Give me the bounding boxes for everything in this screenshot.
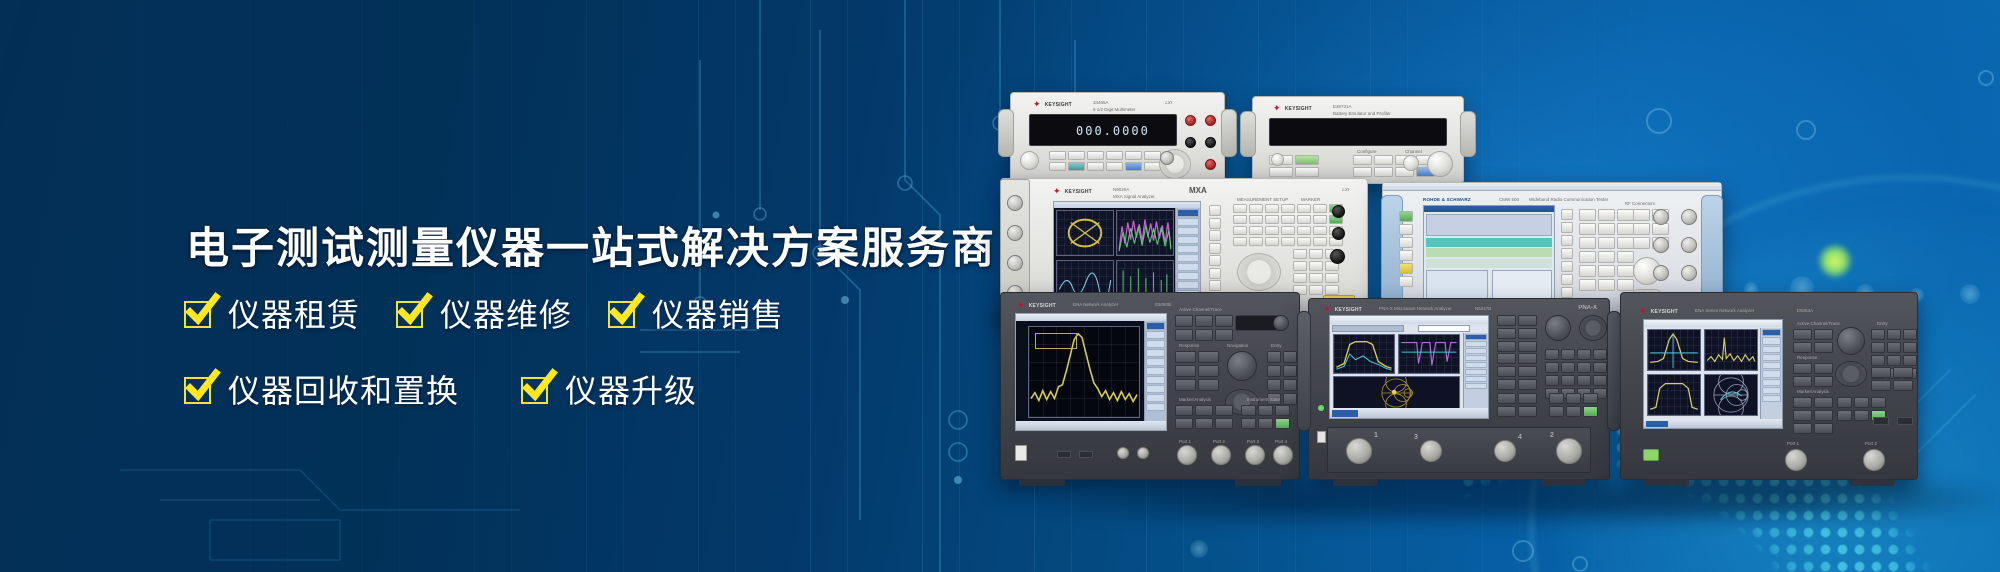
model-label: N5247B [1475, 306, 1491, 311]
pnax-display-keys[interactable] [1497, 393, 1537, 417]
keysight-logo-icon: ✦ [1323, 305, 1331, 314]
handle [1240, 111, 1256, 157]
mxa-softkeys[interactable] [1209, 205, 1221, 304]
group-label-response: Response [1179, 343, 1199, 348]
instrument-pnax-bottom-middle: ✦ KEYSIGHT PNA-X Microwave Network Analy… [1308, 298, 1610, 480]
cmw-screen[interactable] [1423, 205, 1555, 313]
dmm-display: 000.0000 [1029, 114, 1177, 146]
probe-power-port[interactable] [1137, 447, 1149, 459]
psu-display [1269, 118, 1447, 146]
psu-power-button[interactable] [1271, 153, 1284, 166]
instrument-vna-bottom-right: ✦ KEYSIGHT ENA Series Network Analyzer E… [1620, 292, 1918, 480]
test-port-4[interactable] [1494, 440, 1516, 462]
keysight-logo-icon: ✦ [1639, 307, 1647, 316]
mxa-badge: MXA [1189, 186, 1207, 195]
terminal-sense-hi[interactable] [1185, 115, 1196, 126]
status-led [1318, 405, 1324, 411]
pnax-test-port-panel: 1 3 4 2 [1327, 427, 1591, 473]
terminal-input-hi[interactable] [1205, 115, 1216, 126]
test-port-2[interactable] [1556, 438, 1582, 464]
test-port-2[interactable] [1211, 445, 1231, 465]
pnax-numeric-keypad[interactable] [1545, 349, 1607, 399]
model-label: E5080B [1155, 302, 1171, 307]
keysight-logo-icon: ✦ [1053, 187, 1061, 196]
ena-power-indicator [1273, 315, 1289, 331]
service-item-rental[interactable]: 仪器租赁 [184, 290, 360, 336]
dmm-softkey-grid[interactable] [1049, 151, 1161, 171]
ena-channel-keys[interactable] [1175, 315, 1233, 341]
spectrum-pane [1116, 210, 1174, 256]
brand-keysight: ✦ KEYSIGHT [1033, 100, 1072, 109]
model-subtitle: 6 1/2 Digit Multimeter [1093, 107, 1136, 112]
test-port-2[interactable] [1863, 449, 1885, 471]
test-port-1[interactable] [1346, 438, 1372, 464]
service-item-sales[interactable]: 仪器销售 [608, 290, 784, 336]
psu-select-knob[interactable] [1403, 155, 1419, 171]
service-label: 仪器销售 [652, 290, 784, 336]
brand-keysight: ✦ KEYSIGHT [1639, 307, 1678, 316]
test-port-4[interactable] [1273, 445, 1293, 465]
checkbox-checked-icon [521, 374, 552, 405]
pnax-smith-chart-pane [1333, 376, 1460, 410]
vna-smith-chart-pane [1704, 374, 1758, 416]
instrument-psu-top-right: ✦ KEYSIGHT E36731A Battery Emulator and … [1252, 96, 1464, 184]
test-port-1[interactable] [1177, 445, 1197, 465]
pnax-response-keys[interactable] [1497, 315, 1537, 352]
group-label-entry: Entry [1877, 321, 1888, 326]
handle [1607, 311, 1621, 431]
ena-state-keys[interactable] [1241, 405, 1290, 429]
brand-keysight: ✦ KEYSIGHT [1273, 104, 1312, 113]
model-subtitle: Wideband Radio Communication Tester [1529, 197, 1608, 202]
pnax-rotary-knob[interactable] [1545, 315, 1571, 341]
vna-response-keys[interactable] [1793, 363, 1833, 387]
group-label-rf-connectors: RF Connectors [1625, 201, 1655, 206]
dmm-power-knob[interactable] [1020, 151, 1039, 170]
usb-port[interactable] [1057, 451, 1071, 458]
pnax-utility-keys[interactable] [1549, 393, 1598, 417]
model-label: N9020A [1113, 187, 1129, 192]
vna-trace-pane-3 [1647, 374, 1701, 416]
port-number: 3 [1414, 434, 1418, 441]
mxa-function-keys[interactable] [1233, 204, 1343, 246]
rf-connector[interactable] [1007, 225, 1023, 241]
rf-port[interactable] [1681, 265, 1697, 281]
group-label-response: Response [1797, 355, 1817, 360]
service-row-2: 仪器回收和置换 仪器升级 [184, 366, 697, 412]
service-item-upgrade[interactable]: 仪器升级 [521, 366, 697, 412]
port-number: 4 [1518, 434, 1522, 441]
model-label: E36731A [1333, 104, 1352, 109]
rf-connector[interactable] [1007, 255, 1023, 271]
port-label: Port 1 [1787, 441, 1799, 446]
handle [998, 109, 1014, 157]
lxi-badge: LXI [1342, 187, 1349, 192]
model-label: CMW 500 [1499, 197, 1519, 202]
port-label: Port 2 [1213, 439, 1225, 444]
page-title: 电子测试测量仪器一站式解决方案服务商 [186, 214, 996, 276]
group-label-entry: Entry [1271, 343, 1282, 348]
constellation-pane [1056, 210, 1114, 256]
usb-port[interactable] [1873, 417, 1889, 425]
test-port-3[interactable] [1420, 440, 1442, 462]
mxa-rf-input[interactable] [1332, 205, 1345, 218]
instrument-foot [1235, 479, 1281, 486]
vna-rotary-knob[interactable] [1837, 327, 1865, 355]
terminal-sense-lo[interactable] [1185, 137, 1196, 148]
cmw-left-softkeys[interactable] [1399, 211, 1413, 287]
hero-banner: 电子测试测量仪器一站式解决方案服务商 仪器租赁 仪器维修 [0, 0, 2000, 572]
group-label-instrument-state: Instrument State [1247, 397, 1280, 402]
usb-port[interactable] [1897, 417, 1913, 425]
handle [1297, 311, 1311, 431]
rf-port[interactable] [1653, 265, 1669, 281]
pnax-badge: PNA-X [1578, 305, 1597, 311]
mxa-probe-input[interactable] [1332, 227, 1345, 240]
banner-copy: 电子测试测量仪器一站式解决方案服务商 仪器租赁 仪器维修 [0, 0, 980, 572]
power-switch[interactable] [1317, 431, 1326, 443]
checkbox-checked-icon [184, 298, 215, 329]
rf-port[interactable] [1653, 237, 1669, 253]
instrument-foot [1019, 479, 1065, 486]
service-label: 仪器升级 [565, 366, 697, 412]
port-label: Port 1 [1179, 439, 1191, 444]
group-label-navigation: Navigation [1227, 343, 1248, 348]
ena-response-keys[interactable] [1175, 351, 1219, 391]
service-item-repair[interactable]: 仪器维修 [396, 290, 572, 336]
instrument-foot [1541, 479, 1585, 486]
lxi-badge: LXI [1165, 100, 1172, 105]
instrument-foot [1333, 479, 1377, 486]
vna-trace-pane-2 [1704, 329, 1758, 371]
test-port-1[interactable] [1785, 449, 1807, 471]
cmw-keypad-left[interactable] [1579, 209, 1634, 291]
service-item-recycle-exchange[interactable]: 仪器回收和置换 [184, 366, 459, 412]
port-label: Port 3 [1247, 439, 1259, 444]
brand-keysight: ✦ KEYSIGHT [1323, 305, 1362, 314]
mxa-aux-input[interactable] [1330, 249, 1345, 264]
model-subtitle: MXA Signal Analyzer [1113, 194, 1155, 199]
model-subtitle: PNA-X Microwave Network Analyzer [1379, 306, 1452, 311]
brand-keysight: ✦ KEYSIGHT [1017, 301, 1056, 310]
model-subtitle: Battery Emulator and Profiler [1333, 111, 1391, 116]
group-label-marker: Marker/Analysis [1179, 397, 1211, 402]
port-label: Port 4 [1275, 439, 1287, 444]
group-label-channel: Channel [1405, 149, 1422, 154]
model-label: 34465A [1093, 100, 1109, 105]
keysight-logo-icon: ✦ [1017, 301, 1025, 310]
rf-connector[interactable] [1007, 195, 1023, 211]
instrument-foot [1643, 479, 1689, 486]
pnax-trace-pane-2 [1398, 334, 1460, 374]
dmm-aux-button[interactable] [1160, 151, 1174, 165]
cmw-right-softkeys[interactable] [1561, 209, 1573, 311]
terminal-current[interactable] [1205, 159, 1216, 170]
psu-adjust-knob[interactable] [1427, 151, 1453, 177]
ena-screen[interactable] [1015, 313, 1167, 431]
psu-function-buttons[interactable] [1353, 155, 1435, 177]
brand-rohde-schwarz: ROHDE & SCHWARZ [1423, 197, 1471, 202]
handle [1221, 109, 1237, 157]
power-switch[interactable] [1643, 449, 1659, 461]
power-switch[interactable] [1015, 445, 1027, 461]
keysight-logo-icon: ✦ [1033, 100, 1041, 109]
ena-rotary-knob[interactable] [1227, 351, 1257, 381]
service-label: 仪器回收和置换 [228, 366, 459, 412]
ena-marker-keys[interactable] [1175, 405, 1233, 429]
group-label-configure: Configure [1357, 149, 1377, 154]
terminal-input-lo[interactable] [1205, 137, 1216, 148]
pnax-trace-pane-1 [1333, 334, 1395, 374]
port-label: Port 2 [1865, 441, 1877, 446]
keysight-logo-icon: ✦ [1273, 104, 1281, 113]
vna-navigation-pad[interactable] [1835, 361, 1867, 387]
port-number: 2 [1550, 432, 1554, 439]
group-label-marker: MARKER [1301, 197, 1320, 202]
probe-power-port[interactable] [1117, 447, 1129, 459]
model-subtitle: ENA Network Analyzer [1073, 302, 1118, 307]
vna-channel-keys[interactable] [1793, 329, 1833, 353]
checkbox-checked-icon [608, 298, 639, 329]
model-label: E5063A [1797, 308, 1813, 313]
instrument-dmm-top-left: ✦ KEYSIGHT 34465A 6 1/2 Digit Multimeter… [1010, 92, 1225, 184]
instrument-foot [1849, 479, 1895, 486]
rf-port[interactable] [1653, 209, 1669, 225]
rs-top-rail [1383, 183, 1721, 191]
rf-port[interactable] [1681, 209, 1697, 225]
vna-stimulus-keys[interactable] [1871, 367, 1913, 391]
pnax-screen[interactable] [1329, 315, 1489, 419]
pnax-navigation-pad[interactable] [1579, 315, 1607, 341]
checkbox-checked-icon [396, 298, 427, 329]
vna-screen[interactable] [1643, 319, 1783, 429]
test-port-3[interactable] [1245, 445, 1265, 465]
model-subtitle: ENA Series Network Analyzer [1695, 308, 1754, 313]
service-row-1: 仪器租赁 仪器维修 仪器销售 [184, 290, 784, 336]
group-label-active-channel: Active Channel/Trace [1179, 307, 1222, 312]
group-label-measurement: MEASUREMENT SETUP [1237, 197, 1288, 202]
instrument-pna-bottom-left: ✦ KEYSIGHT ENA Network Analyzer E5080B [1000, 292, 1300, 480]
brand-keysight: ✦ KEYSIGHT [1053, 187, 1092, 196]
vna-trace-pane-1 [1647, 329, 1701, 371]
port-number: 1 [1374, 432, 1378, 439]
vna-marker-keys[interactable] [1793, 397, 1833, 434]
usb-port[interactable] [1079, 451, 1093, 458]
ena-trace-pane [1028, 326, 1140, 418]
rf-port[interactable] [1681, 237, 1697, 253]
instrument-cluster-image: ✦ KEYSIGHT 34465A 6 1/2 Digit Multimeter… [1030, 92, 1990, 512]
group-label-marker-analysis: Marker/Analysis [1797, 389, 1829, 394]
checkbox-checked-icon [184, 374, 215, 405]
service-label: 仪器维修 [440, 290, 572, 336]
group-label-active-channel: Active Channel/Trace [1797, 321, 1840, 326]
service-label: 仪器租赁 [228, 290, 360, 336]
handle [1460, 111, 1476, 157]
pnax-marker-keys[interactable] [1497, 353, 1537, 390]
mxa-navigation-pad[interactable] [1237, 253, 1281, 291]
